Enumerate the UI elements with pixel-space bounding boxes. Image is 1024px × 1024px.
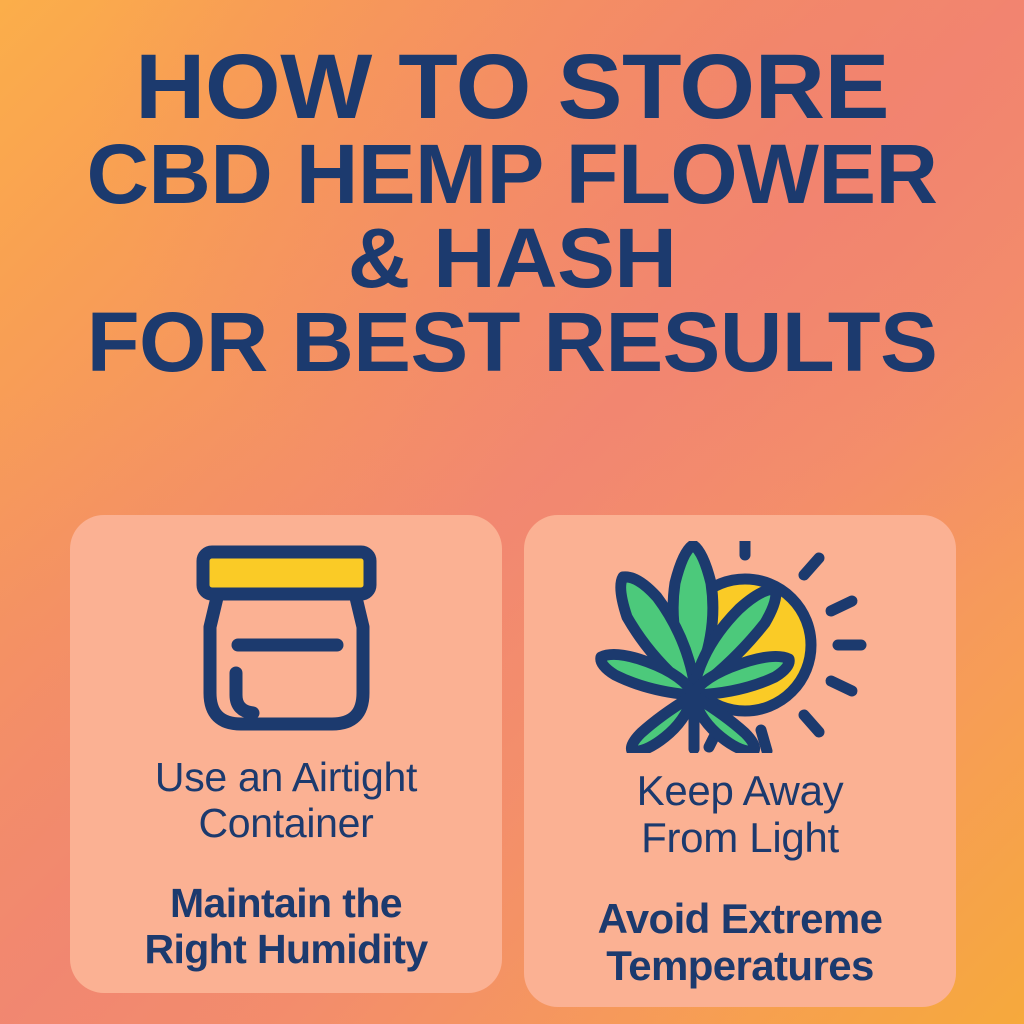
title-line-3: & HASH <box>0 219 1024 299</box>
poster-title: HOW TO STORE CBD HEMP FLOWER & HASH FOR … <box>0 44 1024 383</box>
tip-line-b-part2: Temperatures <box>598 942 883 989</box>
cannabis-leaf-sun-icon <box>595 541 885 753</box>
tip-line-a-part2: From Light <box>598 814 883 861</box>
title-line-4: FOR BEST RESULTS <box>0 303 1024 383</box>
title-line-2: CBD HEMP FLOWER <box>0 135 1024 215</box>
infographic-poster: HOW TO STORE CBD HEMP FLOWER & HASH FOR … <box>0 0 1024 1024</box>
tips-card-group: Use an Airtight Container Maintain the R… <box>70 515 956 1007</box>
tip-line-a: Use an Airtight Container <box>144 755 427 847</box>
tip-line-a: Keep Away From Light <box>598 767 883 861</box>
tip-card-keep-away-from-light: Keep Away From Light Avoid Extreme Tempe… <box>524 515 956 1007</box>
tip-card-airtight-container: Use an Airtight Container Maintain the R… <box>70 515 502 993</box>
tip-card-text-light: Keep Away From Light Avoid Extreme Tempe… <box>598 753 883 989</box>
tip-line-a-part1: Keep Away <box>598 767 883 814</box>
tip-line-b: Maintain the Right Humidity <box>144 881 427 973</box>
airtight-jar-icon <box>179 541 394 741</box>
tip-line-a-part1: Use an Airtight <box>144 755 427 801</box>
tip-line-b: Avoid Extreme Temperatures <box>598 895 883 989</box>
leaf-sun-icon-wrapper <box>595 541 885 753</box>
tip-line-b-part2: Right Humidity <box>144 927 427 973</box>
tip-line-a-part2: Container <box>144 801 427 847</box>
tip-line-b-part1: Avoid Extreme <box>598 895 883 942</box>
tip-line-b-part1: Maintain the <box>144 881 427 927</box>
tip-card-text-airtight: Use an Airtight Container Maintain the R… <box>144 741 427 973</box>
jar-icon-wrapper <box>179 541 394 741</box>
title-line-1: HOW TO STORE <box>0 44 1024 131</box>
